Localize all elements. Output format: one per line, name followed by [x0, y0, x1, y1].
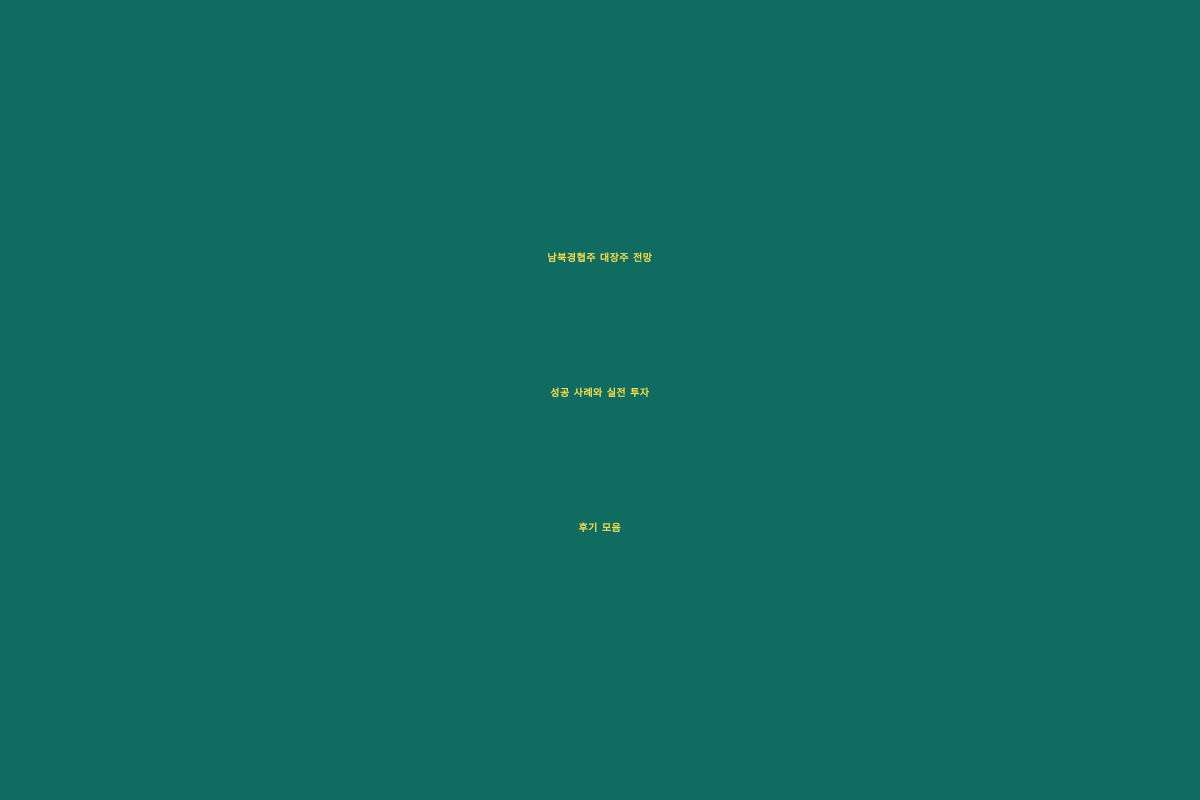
title-line-2: 성공 사례와 실전 투자 — [20, 326, 1180, 461]
thumbnail-banner: 남북경협주 대장주 전망 성공 사례와 실전 투자 후기 모음 — [0, 0, 1200, 800]
title-line-3: 후기 모음 — [20, 461, 1180, 596]
title-line-1: 남북경협주 대장주 전망 — [20, 191, 1180, 326]
page-title: 남북경협주 대장주 전망 성공 사례와 실전 투자 후기 모음 — [20, 191, 1180, 596]
